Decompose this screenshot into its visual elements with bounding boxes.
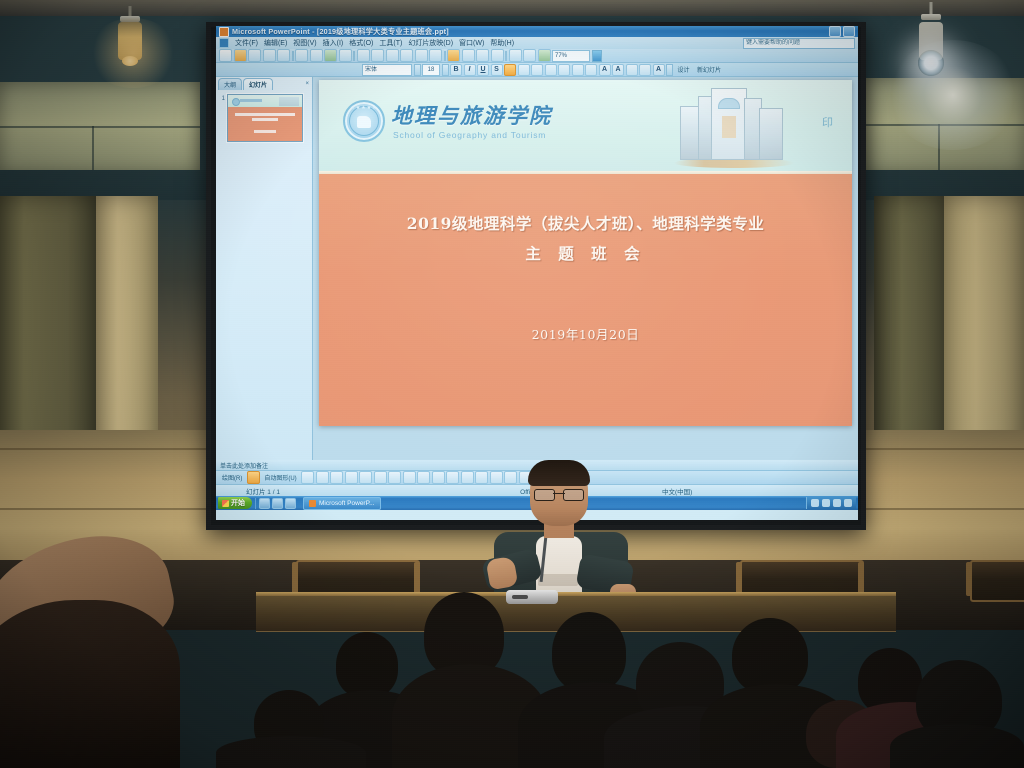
menu-item-help[interactable]: 帮助(H) bbox=[490, 38, 514, 48]
slide-date: 2019年10月20日 bbox=[319, 324, 852, 343]
projection-screen: Microsoft PowerPoint - [2019级地理科学大类专业主题班… bbox=[216, 26, 858, 520]
insert-picture-icon[interactable] bbox=[432, 471, 445, 484]
font-size-dropdown-icon[interactable] bbox=[442, 64, 449, 76]
institution-name-en: School of Geography and Tourism bbox=[393, 130, 546, 140]
vertical-text-box-icon[interactable] bbox=[374, 471, 387, 484]
powerpoint-app-icon bbox=[219, 27, 229, 37]
minimize-button[interactable] bbox=[829, 26, 841, 37]
insert-diagram-icon[interactable] bbox=[491, 49, 504, 62]
toolbar-separator bbox=[444, 51, 446, 61]
menu-bar[interactable]: 文件(F) 编辑(E) 视图(V) 插入(I) 格式(O) 工具(T) 幻灯片放… bbox=[216, 37, 858, 49]
slide-title-line-1: 2019级地理科学（拔尖人才班）、地理科学类专业 bbox=[319, 212, 852, 234]
insert-chart-icon[interactable] bbox=[447, 49, 460, 62]
increase-font-size-button[interactable]: A bbox=[599, 64, 611, 76]
toolbar-separator bbox=[505, 51, 507, 61]
foreground-person bbox=[0, 600, 180, 768]
new-slide-button-label[interactable]: 新幻灯片 bbox=[694, 65, 724, 74]
system-tray[interactable] bbox=[806, 497, 856, 509]
slide-title-line-2: 主 题 班 会 bbox=[319, 242, 852, 264]
italic-button[interactable]: I bbox=[464, 64, 476, 76]
audience-head bbox=[732, 618, 808, 694]
menu-item-view[interactable]: 视图(V) bbox=[293, 38, 316, 48]
font-size-input[interactable]: 18 bbox=[422, 64, 440, 76]
insert-table-icon[interactable] bbox=[462, 49, 475, 62]
quick-launch-bar[interactable] bbox=[255, 498, 296, 509]
show-formatting-icon[interactable] bbox=[509, 49, 522, 62]
restore-button[interactable] bbox=[843, 26, 855, 37]
slide-thumbnail-number: 1 bbox=[219, 94, 225, 142]
menu-item-slideshow[interactable]: 幻灯片放映(D) bbox=[408, 38, 453, 48]
new-slide-icon[interactable] bbox=[538, 49, 551, 62]
grayscale-icon[interactable] bbox=[523, 49, 536, 62]
tab-slides[interactable]: 幻灯片 bbox=[243, 78, 273, 90]
autoshapes-menu-button[interactable]: 自动图形(U) bbox=[261, 473, 299, 482]
select-objects-icon[interactable] bbox=[247, 471, 260, 484]
wall-panel-right bbox=[866, 78, 1024, 174]
start-button-label: 开始 bbox=[231, 498, 245, 508]
slide-counter: 幻灯片 1 / 1 bbox=[216, 486, 446, 496]
audience-shoulders bbox=[216, 736, 366, 768]
thumb-title-line-2 bbox=[252, 118, 278, 121]
windows-flag-icon bbox=[222, 500, 229, 507]
diagram-icon[interactable] bbox=[403, 471, 416, 484]
menu-item-format[interactable]: 格式(O) bbox=[349, 38, 373, 48]
presenter-table-edge bbox=[256, 592, 896, 596]
media-player-icon[interactable] bbox=[272, 498, 283, 509]
text-box-tool-icon[interactable] bbox=[359, 471, 372, 484]
notes-placeholder: 单击此处添加备注 bbox=[220, 461, 268, 470]
university-seal-logo-icon: ★★★★★ bbox=[343, 100, 385, 142]
thumb-date-line bbox=[254, 130, 276, 133]
thumb-title-line-1 bbox=[235, 113, 295, 116]
audience-head bbox=[336, 632, 398, 698]
ime-icon[interactable] bbox=[833, 499, 841, 507]
align-justify-button[interactable] bbox=[545, 64, 557, 76]
new-file-icon[interactable] bbox=[219, 49, 232, 62]
increase-indent-button[interactable] bbox=[639, 64, 651, 76]
format-painter-icon[interactable] bbox=[400, 49, 413, 62]
slide-editing-area[interactable]: ★★★★★ 地理与旅游学院 School of Geography and To… bbox=[313, 77, 858, 460]
decrease-indent-button[interactable] bbox=[626, 64, 638, 76]
align-left-button[interactable] bbox=[504, 64, 516, 76]
slide-body: 2019级地理科学（拔尖人才班）、地理科学类专业 主 题 班 会 2019年10… bbox=[319, 174, 852, 426]
logo-stars: ★★★★★ bbox=[345, 105, 383, 111]
menu-item-tools[interactable]: 工具(T) bbox=[379, 38, 402, 48]
ceiling-lamp-right bbox=[908, 2, 954, 86]
standard-toolbar[interactable]: 77% bbox=[216, 49, 858, 63]
copy-icon[interactable] bbox=[371, 49, 384, 62]
ask-a-question-input[interactable]: 键入需要帮助的问题 bbox=[743, 38, 855, 49]
microphone-base bbox=[506, 590, 558, 604]
presenter-glasses bbox=[534, 489, 584, 499]
undo-icon[interactable] bbox=[415, 49, 428, 62]
bulleted-list-button[interactable] bbox=[585, 64, 597, 76]
align-distribute-button[interactable] bbox=[558, 64, 570, 76]
audience-head bbox=[552, 612, 626, 692]
start-button[interactable]: 开始 bbox=[218, 497, 252, 509]
font-color-dropdown-icon[interactable] bbox=[666, 64, 673, 76]
logo-emblem bbox=[357, 116, 371, 128]
open-folder-icon[interactable] bbox=[234, 49, 247, 62]
slide-thumbnail-row[interactable]: 1 bbox=[216, 90, 312, 146]
presenter-hair bbox=[528, 460, 590, 486]
spelling-check-icon[interactable] bbox=[324, 49, 337, 62]
tab-outline[interactable]: 大纲 bbox=[218, 78, 242, 90]
institution-name-cn: 地理与旅游学院 bbox=[391, 100, 552, 130]
powerpoint-window: Microsoft PowerPoint - [2019级地理科学大类专业主题班… bbox=[216, 26, 858, 520]
volume-icon[interactable] bbox=[822, 499, 830, 507]
bold-button[interactable]: B bbox=[450, 64, 462, 76]
red-seal-stamp-icon: 印 bbox=[822, 114, 836, 130]
powerpoint-taskbar-icon bbox=[309, 500, 316, 507]
thumb-institution-text bbox=[240, 99, 262, 102]
ceiling-lamp-left bbox=[108, 6, 152, 80]
align-right-button[interactable] bbox=[531, 64, 543, 76]
slide-header: ★★★★★ 地理与旅游学院 School of Geography and To… bbox=[319, 80, 852, 174]
paste-icon[interactable] bbox=[386, 49, 399, 62]
show-desktop-icon[interactable] bbox=[259, 498, 270, 509]
rectangle-tool-icon[interactable] bbox=[330, 471, 343, 484]
slide-thumbnail-1[interactable] bbox=[227, 94, 303, 142]
zoom-value-input[interactable]: 77% bbox=[552, 50, 590, 62]
menu-item-window[interactable]: 窗口(W) bbox=[459, 38, 484, 48]
window-titlebar: Microsoft PowerPoint - [2019级地理科学大类专业主题班… bbox=[216, 26, 858, 37]
text-shadow-button[interactable]: S bbox=[491, 64, 503, 76]
font-name-input[interactable]: 宋体 bbox=[362, 64, 412, 76]
window-controls[interactable] bbox=[829, 26, 855, 37]
design-button-label[interactable]: 设计 bbox=[675, 65, 693, 74]
insert-picture-icon[interactable] bbox=[476, 49, 489, 62]
browser-icon[interactable] bbox=[285, 498, 296, 509]
slide-canvas[interactable]: ★★★★★ 地理与旅游学院 School of Geography and To… bbox=[319, 80, 852, 426]
taskbar-item-powerpoint[interactable]: Microsoft PowerP... bbox=[303, 497, 381, 510]
line-color-icon[interactable] bbox=[461, 471, 474, 484]
classroom-scene: Microsoft PowerPoint - [2019级地理科学大类专业主题班… bbox=[0, 0, 1024, 768]
thumb-building-icon bbox=[279, 97, 299, 106]
underline-button[interactable]: U bbox=[477, 64, 489, 76]
chair-far-right bbox=[966, 560, 1024, 610]
workspace: 大纲 幻灯片 × 1 bbox=[216, 77, 858, 460]
clipart-icon[interactable] bbox=[417, 471, 430, 484]
line-tool-icon[interactable] bbox=[301, 471, 314, 484]
toolbar-separator bbox=[292, 51, 294, 61]
wall-panel-left bbox=[0, 82, 200, 174]
taskbar-item-label: Microsoft PowerP... bbox=[319, 500, 375, 507]
email-icon[interactable] bbox=[277, 49, 290, 62]
slides-outline-pane[interactable]: 大纲 幻灯片 × 1 bbox=[216, 77, 313, 460]
formatting-toolbar[interactable]: 宋体 18 B I U S A A A bbox=[216, 63, 858, 77]
research-icon[interactable] bbox=[339, 49, 352, 62]
document-icon bbox=[219, 38, 229, 48]
wordart-icon[interactable] bbox=[388, 471, 401, 484]
oval-tool-icon[interactable] bbox=[345, 471, 358, 484]
cut-icon[interactable] bbox=[357, 49, 370, 62]
presenter-shirt-print bbox=[538, 574, 578, 586]
menu-item-edit[interactable]: 编辑(E) bbox=[264, 38, 287, 48]
permission-icon[interactable] bbox=[263, 49, 276, 62]
fill-color-icon[interactable] bbox=[446, 471, 459, 484]
thumb-logo-icon bbox=[232, 98, 240, 106]
campus-building-illustration bbox=[674, 86, 794, 172]
pane-tab-strip[interactable]: 大纲 幻灯片 × bbox=[216, 77, 312, 90]
network-icon[interactable] bbox=[811, 499, 819, 507]
draw-menu-button[interactable]: 绘图(R) bbox=[219, 473, 245, 482]
save-icon[interactable] bbox=[248, 49, 261, 62]
font-name-dropdown-icon[interactable] bbox=[414, 64, 421, 76]
close-pane-icon[interactable]: × bbox=[305, 81, 312, 87]
font-color-button[interactable]: A bbox=[653, 64, 665, 76]
decrease-font-size-button[interactable]: A bbox=[612, 64, 624, 76]
window-title: Microsoft PowerPoint - [2019级地理科学大类专业主题班… bbox=[232, 27, 449, 37]
numbered-list-button[interactable] bbox=[572, 64, 584, 76]
align-center-button[interactable] bbox=[518, 64, 530, 76]
print-preview-icon[interactable] bbox=[310, 49, 323, 62]
clock-icon[interactable] bbox=[844, 499, 852, 507]
language-indicator: 中文(中国) bbox=[626, 486, 858, 496]
zoom-dropdown-icon[interactable] bbox=[592, 50, 602, 62]
audience-shoulders bbox=[890, 724, 1024, 768]
redo-icon[interactable] bbox=[429, 49, 442, 62]
menu-item-file[interactable]: 文件(F) bbox=[235, 38, 258, 48]
menu-item-insert[interactable]: 插入(I) bbox=[323, 38, 344, 48]
print-icon[interactable] bbox=[295, 49, 308, 62]
toolbar-separator bbox=[353, 51, 355, 61]
arrow-tool-icon[interactable] bbox=[316, 471, 329, 484]
